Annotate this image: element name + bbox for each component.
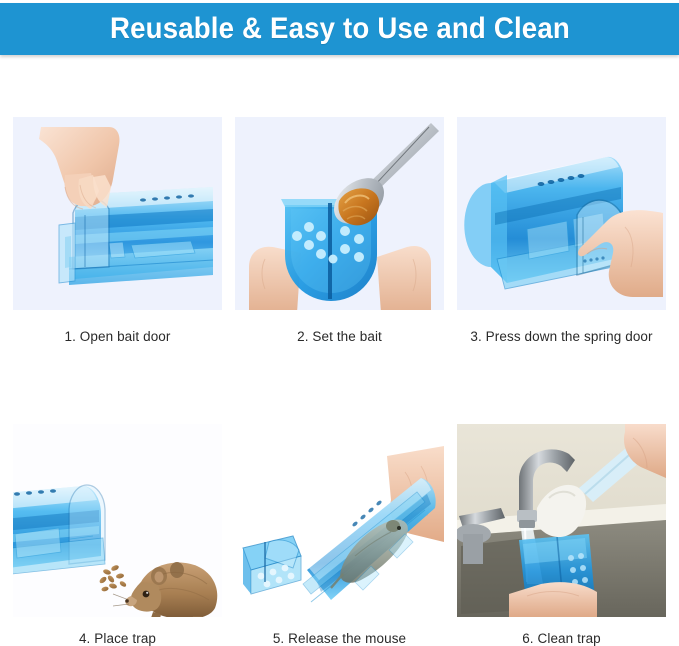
header-banner: Reusable & Easy to Use and Clean bbox=[0, 3, 679, 55]
hand-opening-bait-door-illustration bbox=[13, 117, 222, 310]
spoon-adding-bait-illustration bbox=[235, 117, 444, 310]
trap-with-mouse-illustration bbox=[13, 424, 222, 617]
step-1: 1. Open bait door bbox=[13, 117, 222, 344]
releasing-mouse-illustration bbox=[235, 424, 444, 617]
step-6-photo bbox=[457, 424, 666, 617]
steps-grid: 1. Open bait door bbox=[13, 117, 666, 646]
step-4-caption: 4. Place trap bbox=[13, 631, 222, 646]
step-6: 6. Clean trap bbox=[457, 424, 666, 646]
step-4: 4. Place trap bbox=[13, 424, 222, 646]
step-3-photo bbox=[457, 117, 666, 310]
washing-trap-illustration bbox=[457, 424, 666, 617]
step-1-caption: 1. Open bait door bbox=[13, 329, 222, 344]
step-6-caption: 6. Clean trap bbox=[457, 631, 666, 646]
step-2-caption: 2. Set the bait bbox=[235, 329, 444, 344]
page-title: Reusable & Easy to Use and Clean bbox=[110, 12, 570, 46]
step-4-photo bbox=[13, 424, 222, 617]
step-3-caption: 3. Press down the spring door bbox=[457, 329, 666, 344]
step-1-photo bbox=[13, 117, 222, 310]
step-2: 2. Set the bait bbox=[235, 117, 444, 344]
finger-pressing-spring-door-illustration bbox=[457, 117, 666, 310]
step-3: 3. Press down the spring door bbox=[457, 117, 666, 344]
step-5-caption: 5. Release the mouse bbox=[235, 631, 444, 646]
step-2-photo bbox=[235, 117, 444, 310]
step-5: 5. Release the mouse bbox=[235, 424, 444, 646]
step-5-photo bbox=[235, 424, 444, 617]
